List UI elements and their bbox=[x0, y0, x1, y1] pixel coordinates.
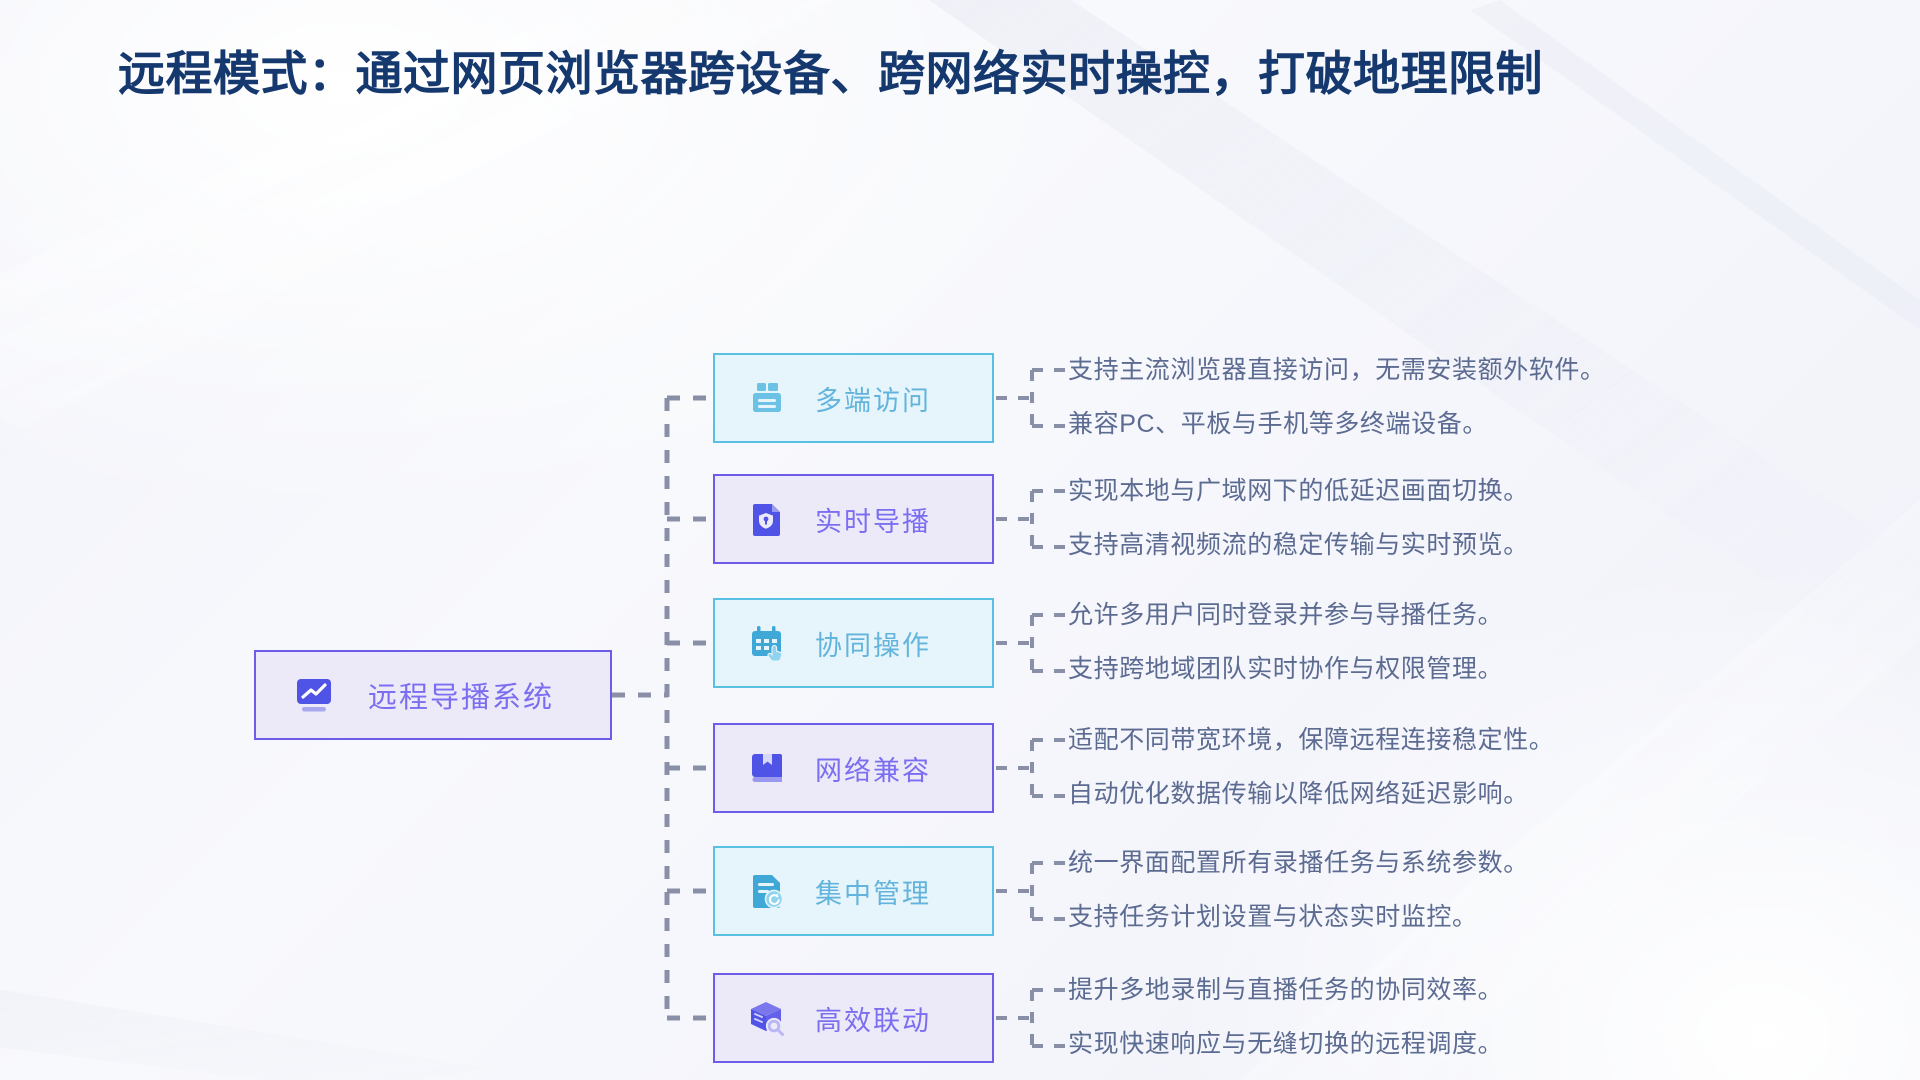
branch-node-5-label: 集中管理 bbox=[815, 872, 931, 911]
desc-line: 支持主流浏览器直接访问，无需安装额外软件。 bbox=[1068, 343, 1920, 397]
desc-line: 适配不同带宽环境，保障远程连接稳定性。 bbox=[1068, 713, 1920, 767]
branch-node-5[interactable]: 集中管理 bbox=[713, 846, 994, 936]
root-node[interactable]: 远程导播系统 bbox=[254, 650, 612, 740]
desc-line: 实现本地与广域网下的低延迟画面切换。 bbox=[1068, 464, 1920, 518]
book-save-icon bbox=[747, 748, 787, 788]
branch-node-3[interactable]: 协同操作 bbox=[713, 598, 994, 688]
branch-node-2[interactable]: 实时导播 bbox=[713, 474, 994, 564]
branch-node-1[interactable]: 多端访问 bbox=[713, 353, 994, 443]
desc-group-5: 统一界面配置所有录播任务与系统参数。 支持任务计划设置与状态实时监控。 bbox=[1068, 836, 1920, 944]
branch-node-3-label: 协同操作 bbox=[815, 624, 931, 663]
box-search-icon bbox=[747, 998, 787, 1038]
desc-group-4: 适配不同带宽环境，保障远程连接稳定性。 自动优化数据传输以降低网络延迟影响。 bbox=[1068, 713, 1920, 821]
branch-node-6-label: 高效联动 bbox=[815, 999, 931, 1038]
desc-line: 支持任务计划设置与状态实时监控。 bbox=[1068, 890, 1920, 944]
trending-chart-icon bbox=[294, 675, 334, 715]
desc-group-3: 允许多用户同时登录并参与导播任务。 支持跨地域团队实时协作与权限管理。 bbox=[1068, 588, 1920, 696]
root-node-label: 远程导播系统 bbox=[368, 674, 554, 716]
desc-line: 统一界面配置所有录播任务与系统参数。 bbox=[1068, 836, 1920, 890]
branch-node-2-label: 实时导播 bbox=[815, 500, 931, 539]
branch-node-1-label: 多端访问 bbox=[815, 379, 931, 418]
mindmap-diagram: 远程导播系统 多端访问 实时导播 bbox=[0, 0, 1920, 1080]
branch-node-4-label: 网络兼容 bbox=[815, 749, 931, 788]
desc-group-1: 支持主流浏览器直接访问，无需安装额外软件。 兼容PC、平板与手机等多终端设备。 bbox=[1068, 343, 1920, 451]
desc-line: 支持高清视频流的稳定传输与实时预览。 bbox=[1068, 518, 1920, 572]
document-history-icon bbox=[747, 871, 787, 911]
desc-line: 支持跨地域团队实时协作与权限管理。 bbox=[1068, 642, 1920, 696]
desc-line: 允许多用户同时登录并参与导播任务。 bbox=[1068, 588, 1920, 642]
desc-line: 提升多地录制与直播任务的协同效率。 bbox=[1068, 963, 1920, 1017]
printer-server-icon bbox=[747, 378, 787, 418]
branch-node-6[interactable]: 高效联动 bbox=[713, 973, 994, 1063]
desc-group-6: 提升多地录制与直播任务的协同效率。 实现快速响应与无缝切换的远程调度。 bbox=[1068, 963, 1920, 1071]
desc-line: 自动优化数据传输以降低网络延迟影响。 bbox=[1068, 767, 1920, 821]
desc-line: 兼容PC、平板与手机等多终端设备。 bbox=[1068, 397, 1920, 451]
calendar-click-icon bbox=[747, 623, 787, 663]
document-shield-icon bbox=[747, 499, 787, 539]
desc-group-2: 实现本地与广域网下的低延迟画面切换。 支持高清视频流的稳定传输与实时预览。 bbox=[1068, 464, 1920, 572]
desc-line: 实现快速响应与无缝切换的远程调度。 bbox=[1068, 1017, 1920, 1071]
branch-node-4[interactable]: 网络兼容 bbox=[713, 723, 994, 813]
